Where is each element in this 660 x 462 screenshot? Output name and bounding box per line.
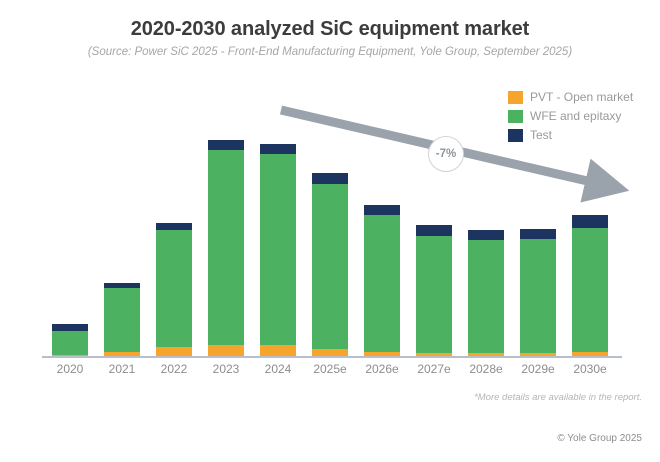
- legend-swatch-icon: [508, 91, 523, 104]
- x-tick-2026e: 2026e: [356, 362, 408, 376]
- bar-2025e: [312, 173, 348, 358]
- bar-segment-wfe-and-epitaxy: [156, 230, 192, 347]
- x-tick-2023: 2023: [200, 362, 252, 376]
- bar-segment-test: [260, 144, 296, 153]
- chart-subtitle: (Source: Power SiC 2025 - Front-End Manu…: [0, 46, 660, 58]
- bar-segment-test: [572, 215, 608, 227]
- bar-segment-test: [416, 225, 452, 236]
- x-tick-2029e: 2029e: [512, 362, 564, 376]
- legend-label: WFE and epitaxy: [530, 109, 621, 123]
- bar-segment-test: [208, 140, 244, 149]
- legend-label: PVT - Open market: [530, 90, 633, 104]
- bar-segment-test: [468, 230, 504, 240]
- legend-item-1[interactable]: WFE and epitaxy: [508, 108, 633, 124]
- x-tick-2020: 2020: [44, 362, 96, 376]
- bar-2022: [156, 223, 192, 358]
- x-tick-2027e: 2027e: [408, 362, 460, 376]
- legend-swatch-icon: [508, 129, 523, 142]
- bar-segment-wfe-and-epitaxy: [416, 236, 452, 353]
- cagr-badge: -7%: [428, 136, 464, 172]
- legend-label: Test: [530, 128, 552, 142]
- bar-segment-wfe-and-epitaxy: [208, 150, 244, 345]
- x-tick-2022: 2022: [148, 362, 200, 376]
- bar-2021: [104, 283, 140, 358]
- bar-segment-wfe-and-epitaxy: [52, 331, 88, 355]
- bar-segment-wfe-and-epitaxy: [104, 288, 140, 353]
- bar-segment-wfe-and-epitaxy: [572, 228, 608, 353]
- bar-2030e: [572, 215, 608, 358]
- legend-swatch-icon: [508, 110, 523, 123]
- bar-segment-wfe-and-epitaxy: [364, 215, 400, 352]
- x-axis-tick-labels: 202020212022202320242025e2026e2027e2028e…: [42, 362, 622, 382]
- x-axis-line: [42, 356, 622, 358]
- x-tick-2025e: 2025e: [304, 362, 356, 376]
- chart-container: 2020-2030 analyzed SiC equipment market …: [0, 0, 660, 462]
- bar-2024: [260, 144, 296, 358]
- footnote: *More details are available in the repor…: [474, 392, 642, 403]
- bar-2020: [52, 324, 88, 358]
- bar-2027e: [416, 225, 452, 358]
- bar-2023: [208, 140, 244, 358]
- x-tick-2030e: 2030e: [564, 362, 616, 376]
- x-tick-2024: 2024: [252, 362, 304, 376]
- x-tick-2028e: 2028e: [460, 362, 512, 376]
- legend-item-0[interactable]: PVT - Open market: [508, 89, 633, 105]
- bar-segment-test: [520, 229, 556, 239]
- bar-segment-wfe-and-epitaxy: [260, 154, 296, 345]
- bar-2028e: [468, 230, 504, 358]
- bar-segment-wfe-and-epitaxy: [468, 240, 504, 353]
- bar-segment-wfe-and-epitaxy: [520, 239, 556, 353]
- bar-segment-test: [312, 173, 348, 183]
- x-tick-2021: 2021: [96, 362, 148, 376]
- chart-legend: PVT - Open marketWFE and epitaxyTest: [508, 89, 633, 146]
- legend-item-2[interactable]: Test: [508, 127, 633, 143]
- bar-2026e: [364, 205, 400, 358]
- copyright-label: © Yole Group 2025: [557, 433, 642, 444]
- bar-segment-wfe-and-epitaxy: [312, 184, 348, 349]
- bar-segment-test: [364, 205, 400, 215]
- bar-2029e: [520, 229, 556, 358]
- chart-title: 2020-2030 analyzed SiC equipment market: [0, 18, 660, 41]
